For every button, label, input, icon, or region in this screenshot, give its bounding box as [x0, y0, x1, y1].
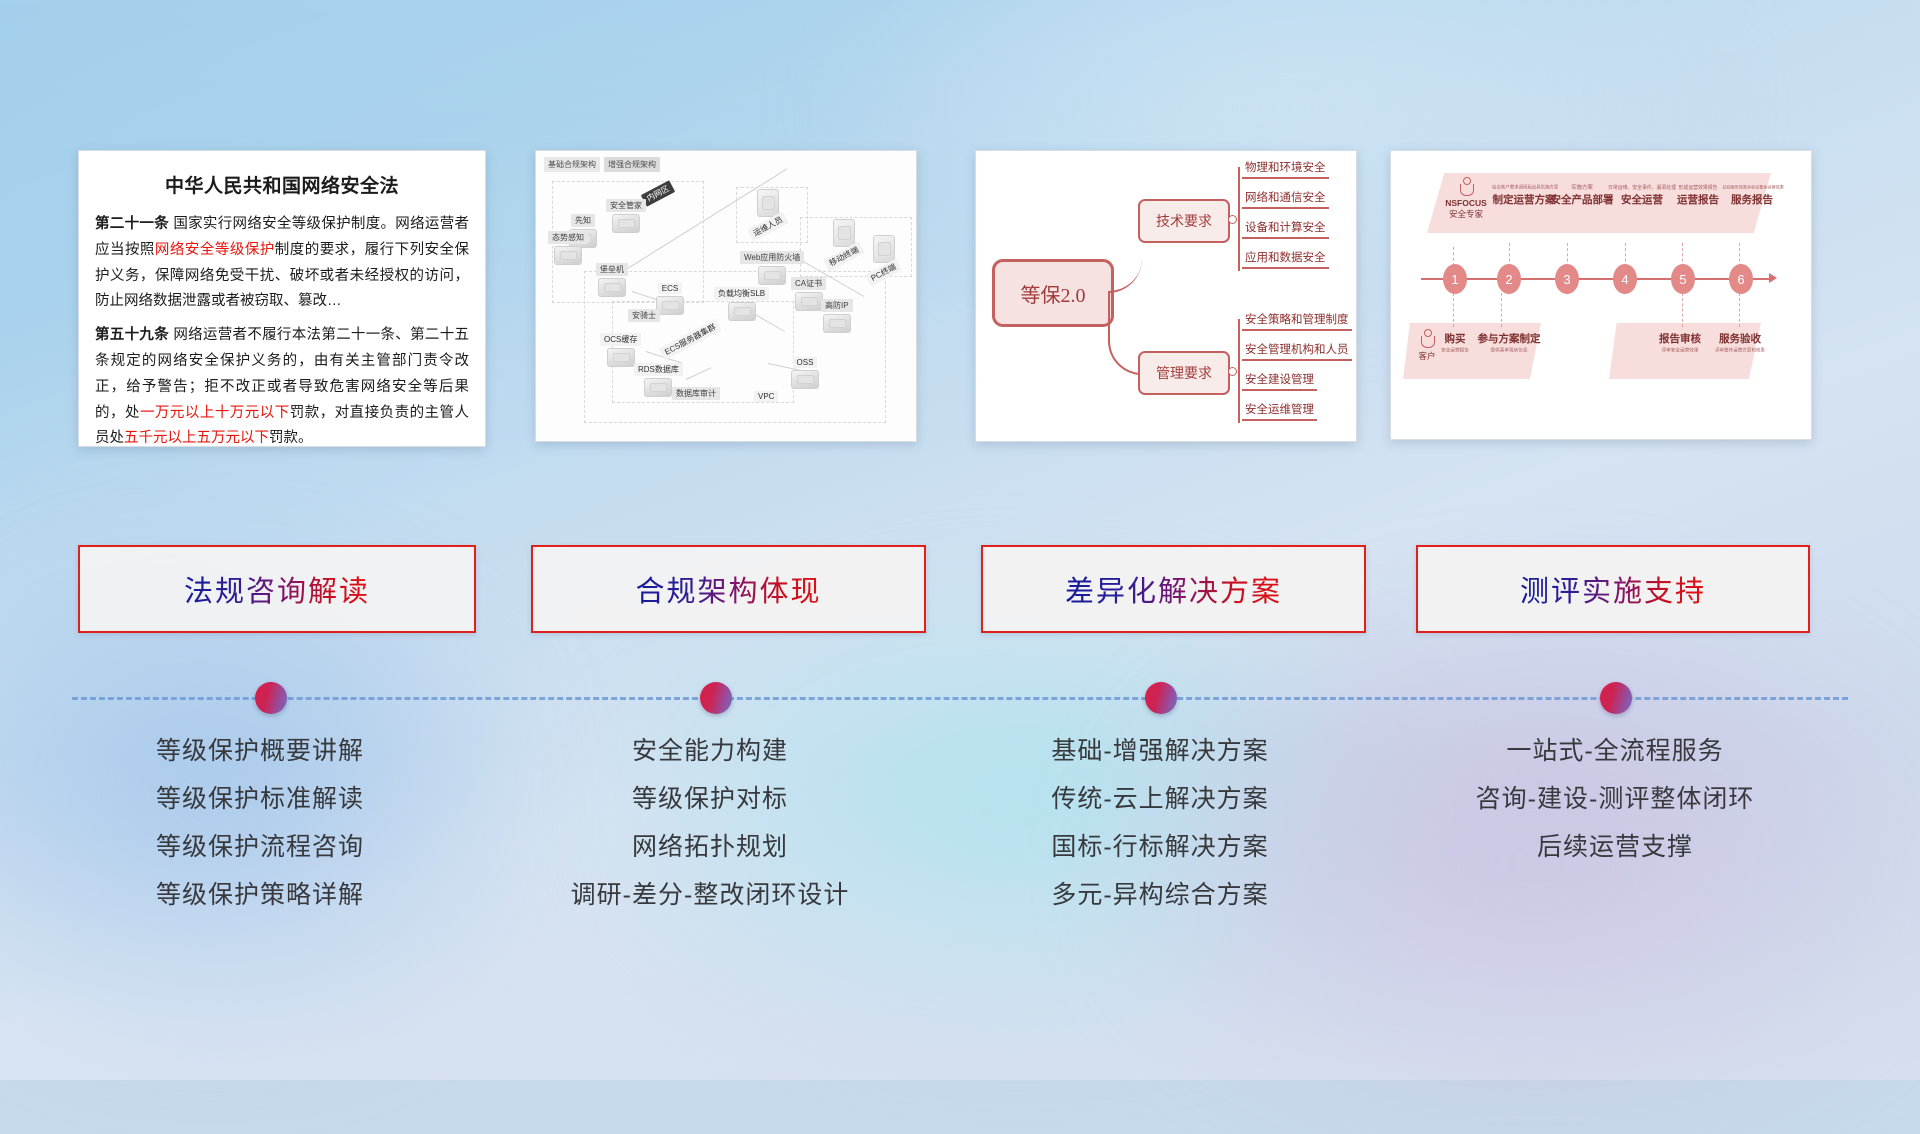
- list-item: 传统-云上解决方案: [960, 783, 1360, 815]
- arch-node-label: RDS数据库: [634, 363, 683, 376]
- list-item: 等级保护概要讲解: [70, 735, 450, 767]
- mindmap-root-node: 等保2.0: [992, 259, 1114, 327]
- arch-node-cube-icon: [554, 246, 582, 265]
- arch-node-label: 安全管家: [606, 199, 646, 212]
- arch-node-pc-terminal: PC终端: [866, 233, 901, 279]
- arch-node-label: 态势感知: [548, 231, 588, 244]
- step-connector: [1682, 293, 1683, 327]
- arch-node-security-manager: 安全管家: [606, 199, 646, 233]
- law-paragraph-21: 第二十一条 国家实行网络安全等级保护制度。网络运营者应当按照网络安全等级保护制度…: [95, 212, 469, 315]
- list-item: 调研-差分-整改闭环设计: [500, 879, 920, 911]
- arch-node-vpc: VPC: [754, 391, 778, 402]
- arch-node-label: ECS: [658, 283, 682, 294]
- arch-node-cube-icon: [833, 219, 855, 247]
- arch-node-cube-icon: [757, 189, 779, 217]
- arch-node-cube-icon: [607, 348, 635, 367]
- mindmap-leaf: 应用和数据安全: [1242, 249, 1329, 269]
- list-item: 等级保护流程咨询: [70, 831, 450, 863]
- step-subtitle: 评审整体运营方案和效果: [1709, 347, 1771, 354]
- arch-node-ocs-cache: OCS缓存: [600, 333, 641, 367]
- step-subtitle: 总结服务效果并验证整体运营效果: [1722, 184, 1781, 190]
- step-connector: [1501, 293, 1502, 327]
- mindmap-fan-management: [1238, 319, 1240, 423]
- list-item: 咨询-建设-测评整体闭环: [1405, 783, 1825, 815]
- list-item: 一站式-全流程服务: [1405, 735, 1825, 767]
- section-header-row: 法规咨询解读 合规架构体现 差异化解决方案 测评实施支持: [0, 545, 1920, 645]
- arch-node-bastion-host: 堡垒机: [596, 263, 628, 297]
- section-header-label: 合规架构体现: [635, 568, 821, 610]
- architecture-tabs: 基础合规架构 增强合规架构: [544, 157, 660, 172]
- expert-actor-role: 安全专家: [1437, 208, 1495, 220]
- arch-node-label: Web应用防火墙: [740, 251, 804, 264]
- mindmap-collapse-dot-management[interactable]: [1228, 367, 1237, 376]
- timeline-node-4[interactable]: 4: [1613, 264, 1637, 294]
- arch-node-mobile-terminal: 移动终端: [824, 217, 864, 263]
- arch-node-cube-icon: [823, 314, 851, 333]
- list-item: 国标-行标解决方案: [960, 831, 1360, 863]
- step-subtitle: 提供基本现状信息: [1478, 347, 1540, 354]
- mindmap-leaf: 物理和环境安全: [1242, 159, 1329, 179]
- service-timeline-preview-card[interactable]: NSFOCUS 安全专家 客户 结合客户需求调研后出具实施方案 制定运营方案 实…: [1390, 150, 1812, 440]
- arch-node-label: 负载均衡SLB: [714, 287, 769, 300]
- step-connector: [1453, 293, 1454, 327]
- arch-node-cube-icon: [795, 292, 823, 311]
- arch-node-cube-icon: [656, 296, 684, 315]
- mindmap-branch-management: 管理要求: [1138, 351, 1230, 395]
- mindmap-fan-technical: [1238, 167, 1240, 271]
- arch-node-label: OSS: [793, 357, 818, 368]
- timeline-node-2[interactable]: 2: [1497, 264, 1521, 294]
- timeline-node-1[interactable]: 1: [1443, 264, 1467, 294]
- timeline-arrow-icon: [1769, 273, 1777, 283]
- arch-node-label: OCS缓存: [600, 333, 641, 346]
- list-item: 安全能力构建: [500, 735, 920, 767]
- step-subtitle: 安全运营报告: [1434, 347, 1475, 354]
- arch-node-db-audit: 数据库审计: [672, 387, 720, 400]
- arch-node-ecs-cluster: ECS服务器集群: [658, 333, 722, 346]
- section-header-label: 法规咨询解读: [184, 568, 370, 610]
- section-header-label: 差异化解决方案: [1065, 568, 1282, 610]
- section-header-differentiated-solutions[interactable]: 差异化解决方案: [981, 545, 1366, 633]
- arch-node-ops-staff: 运维人员: [748, 187, 788, 233]
- timeline-step-customer: 参与方案制定 提供基本现状信息: [1473, 331, 1545, 355]
- arch-node-ecs: ECS: [656, 283, 684, 315]
- step-title: 服务报告: [1713, 192, 1791, 207]
- list-item: 等级保护策略详解: [70, 879, 450, 911]
- expert-person-icon: [1459, 177, 1473, 197]
- list-item: 后续运营支撑: [1405, 831, 1825, 863]
- mindmap-leaf: 安全建设管理: [1242, 371, 1317, 391]
- arch-node-cube-icon: [873, 235, 895, 263]
- arch-node-cube-icon: [598, 278, 626, 297]
- timeline-node-6[interactable]: 6: [1729, 264, 1753, 294]
- arch-node-anti-ddos-ip: 高防IP: [821, 299, 853, 333]
- arch-node-label: 堡垒机: [596, 263, 628, 276]
- timeline-marker-3[interactable]: [1145, 682, 1177, 714]
- arch-node-anqishi: 安骑士: [628, 309, 660, 322]
- mindmap-leaf: 安全策略和管理制度: [1242, 311, 1352, 331]
- section-timeline: [0, 660, 1920, 720]
- arch-node-label: CA证书: [791, 277, 826, 290]
- arch-node-cube-icon: [728, 302, 756, 321]
- timeline-node-5[interactable]: 5: [1671, 264, 1695, 294]
- detail-list-assessment-support: 一站式-全流程服务 咨询-建设-测评整体闭环 后续运营支撑: [1405, 735, 1825, 879]
- timeline-step-customer: 购买 安全运营报告: [1431, 331, 1479, 355]
- service-timeline-diagram: NSFOCUS 安全专家 客户 结合客户需求调研后出具实施方案 制定运营方案 实…: [1391, 151, 1811, 439]
- list-item: 多元-异构综合方案: [960, 879, 1360, 911]
- arch-node-cube-icon: [758, 266, 786, 285]
- timeline-marker-4[interactable]: [1600, 682, 1632, 714]
- timeline-step-customer: 服务验收 评审整体运营方案和效果: [1703, 331, 1777, 355]
- arch-node-slb: 负载均衡SLB: [714, 287, 769, 321]
- tab-basic-compliance[interactable]: 基础合规架构: [544, 157, 600, 172]
- arch-node-label: 安骑士: [628, 309, 660, 322]
- law-article-number: 第五十九条: [95, 327, 169, 343]
- arch-node-label: 数据库审计: [672, 387, 720, 400]
- detail-list-differentiated-solutions: 基础-增强解决方案 传统-云上解决方案 国标-行标解决方案 多元-异构综合方案: [960, 735, 1360, 927]
- arch-node-label: 先知: [571, 214, 595, 227]
- law-highlight: 一万元以上十万元以下: [140, 405, 290, 421]
- architecture-diagram: 基础合规架构 增强合规架构 内网区 安全管家: [536, 151, 916, 441]
- list-item: 等级保护标准解读: [70, 783, 450, 815]
- arch-node-cube-icon: [644, 378, 672, 397]
- step-title: 购买: [1431, 331, 1479, 346]
- detail-list-regulation-consulting: 等级保护概要讲解 等级保护标准解读 等级保护流程咨询 等级保护策略详解: [70, 735, 450, 927]
- step-title: 参与方案制定: [1473, 331, 1545, 346]
- law-highlight: 五千元以上五万元以下: [124, 430, 269, 446]
- timeline-step-expert: 总结服务效果并验证整体运营效果 服务报告: [1713, 183, 1791, 207]
- law-title: 中华人民共和国网络安全法: [95, 171, 469, 198]
- section-header-regulation-consulting[interactable]: 法规咨询解读: [78, 545, 476, 633]
- section-header-compliance-architecture[interactable]: 合规架构体现: [531, 545, 926, 633]
- arch-node-situational-awareness: 态势感知: [548, 231, 588, 265]
- mindmap-leaf: 设备和计算安全: [1242, 219, 1329, 239]
- section-header-label: 测评实施支持: [1520, 568, 1706, 610]
- list-item: 等级保护对标: [500, 783, 920, 815]
- mindmap-diagram: 等保2.0 技术要求 物理和环境安全 网络和通信安全 设备和计算安全 应用和数据…: [976, 151, 1356, 441]
- step-title: 服务验收: [1703, 331, 1777, 346]
- arch-node-cube-icon: [791, 370, 819, 389]
- arch-node-label: 高防IP: [821, 299, 853, 312]
- timeline-marker-2[interactable]: [700, 682, 732, 714]
- arch-node-internal-zone: 内网区: [642, 187, 674, 200]
- mindmap-branch-technical: 技术要求: [1138, 199, 1230, 243]
- step-connector: [1739, 293, 1740, 327]
- law-document: 中华人民共和国网络安全法 第二十一条 国家实行网络安全等级保护制度。网络运营者应…: [79, 151, 485, 446]
- mindmap-preview-card[interactable]: 等保2.0 技术要求 物理和环境安全 网络和通信安全 设备和计算安全 应用和数据…: [975, 150, 1357, 442]
- law-paragraph-59: 第五十九条 网络运营者不履行本法第二十一条、第二十五条规定的网络安全保护义务的，…: [95, 323, 469, 447]
- mindmap-collapse-dot-technical[interactable]: [1228, 215, 1237, 224]
- list-item: 网络拓扑规划: [500, 831, 920, 863]
- law-article-number: 第二十一条: [95, 216, 169, 232]
- law-text: 罚款。: [269, 430, 313, 446]
- timeline-node-3[interactable]: 3: [1555, 264, 1579, 294]
- mindmap-leaf: 安全管理机构和人员: [1242, 341, 1352, 361]
- arch-node-label: VPC: [754, 391, 778, 402]
- arch-node-cube-icon: [612, 214, 640, 233]
- mindmap-leaf: 网络和通信安全: [1242, 189, 1329, 209]
- mindmap-leaf: 安全运维管理: [1242, 401, 1317, 421]
- slide-stage: 中华人民共和国网络安全法 第二十一条 国家实行网络安全等级保护制度。网络运营者应…: [0, 0, 1920, 1080]
- timeline-axis: [1421, 278, 1771, 280]
- law-preview-card[interactable]: 中华人民共和国网络安全法 第二十一条 国家实行网络安全等级保护制度。网络运营者应…: [78, 150, 486, 447]
- section-header-assessment-support[interactable]: 测评实施支持: [1416, 545, 1810, 633]
- architecture-preview-card[interactable]: 基础合规架构 增强合规架构 内网区 安全管家: [535, 150, 917, 442]
- mindmap-curve-to-technical: [1108, 221, 1142, 293]
- preview-card-row: 中华人民共和国网络安全法 第二十一条 国家实行网络安全等级保护制度。网络运营者应…: [0, 150, 1920, 450]
- list-item: 基础-增强解决方案: [960, 735, 1360, 767]
- timeline-marker-1[interactable]: [255, 682, 287, 714]
- tab-enhanced-compliance[interactable]: 增强合规架构: [604, 157, 660, 172]
- detail-list-compliance-architecture: 安全能力构建 等级保护对标 网络拓扑规划 调研-差分-整改闭环设计: [500, 735, 920, 927]
- arch-node-oss: OSS: [791, 357, 819, 389]
- section-detail-lists: 等级保护概要讲解 等级保护标准解读 等级保护流程咨询 等级保护策略详解 安全能力…: [0, 735, 1920, 965]
- timeline-dashed-line: [72, 697, 1848, 700]
- law-highlight: 网络安全等级保护: [155, 242, 275, 258]
